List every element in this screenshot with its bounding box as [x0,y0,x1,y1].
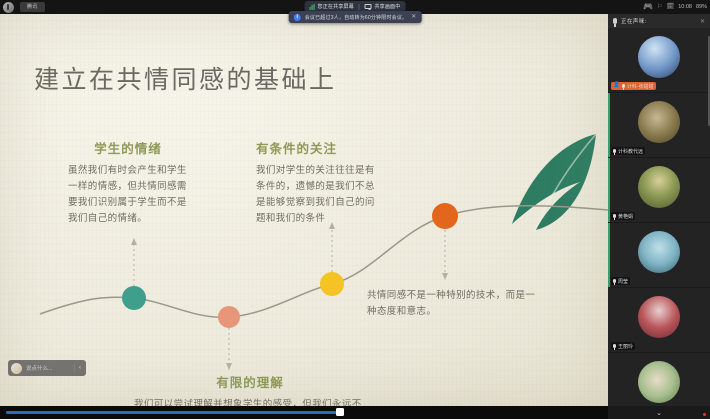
comment-composer[interactable]: 说点什么... ‹ [8,360,86,376]
notification-dot [703,413,706,416]
microphone-icon [613,344,616,349]
participants-collapse-bar[interactable]: ⌄ [608,406,710,419]
node-marker-salmon [218,306,240,328]
block-heading: 学生的情绪 [68,138,188,157]
participant-name: 计科教代远 [618,148,643,155]
sharing-status: 共享画面中 [365,3,401,10]
system-tray: 🎮 ⚐ 🗓 10:08 89% [643,0,707,14]
node-marker-yellow [320,272,344,296]
block-heading: 有限的理解 [134,372,366,391]
host-icon: 👤 [613,83,620,89]
participant-name: 计科-张甜甜 [627,83,654,90]
info-icon: i [294,14,301,21]
avatar [638,101,680,143]
block-body: 我们对学生的关注往往是有条件的，遗憾的是我们不总是能够觉察到我们自己的问题和我们… [256,163,382,227]
microphone-icon [622,84,625,89]
close-icon[interactable]: ✕ [411,14,416,20]
close-icon[interactable]: ✕ [700,18,705,25]
participant-name: 黄艳娟 [618,213,633,220]
slide-block-empathy-attitude: 共情同感不是一种特别的技术，而是一种态度和意志。 [367,288,545,320]
participant-tile[interactable]: 周莹 [608,223,710,288]
meeting-limit-toast: i 会议已超过3人，自动转为60分钟限时会议。 ✕ [289,11,422,23]
composer-divider [74,364,75,372]
sharing-label: 共享画面中 [374,3,400,10]
avatar [11,363,22,374]
avatar [638,296,680,338]
recording-label: 您正在共享屏幕 [318,3,354,10]
avatar [638,36,680,78]
playback-progress-bar[interactable] [0,406,608,419]
send-icon[interactable]: ‹ [79,365,83,371]
block-body: 共情同感不是一种特别的技术，而是一种态度和意志。 [367,288,545,320]
toast-message: 会议已超过3人，自动转为60分钟限时会议。 [305,14,408,21]
participant-nametag: 周莹 [611,277,630,285]
signal-bars-icon [310,4,315,10]
calendar-icon[interactable]: 🗓 [667,4,675,10]
app-tab[interactable]: 腾讯 [20,2,45,12]
controller-icon[interactable]: 🎮 [643,3,653,11]
progress-knob[interactable] [336,408,344,416]
shared-slide-stage[interactable]: 建立在共情同感的基础上 [0,14,608,406]
app-logo-icon [3,2,14,13]
microphone-icon [613,279,616,284]
meeting-screen-share-window: 腾讯 🎮 ⚐ 🗓 10:08 89% 您正在共享屏幕 共享画面中 i 会议已超过… [0,0,710,419]
pill-divider [359,4,360,10]
chevron-down-icon[interactable]: ⌄ [656,409,662,417]
avatar [638,361,680,403]
scrollbar[interactable] [708,36,710,126]
participant-tile[interactable]: 计科教代远 [608,93,710,158]
block-body: 我们可以尝试理解并想象学生的感受，但我们永远不可能脱离自己的经验去理解他人 [134,397,366,406]
participant-tile[interactable]: 王丽玲 [608,288,710,353]
participant-tile[interactable]: 黄艳娟 [608,158,710,223]
microphone-icon [613,214,616,219]
slide-block-limited-understanding: 有限的理解 我们可以尝试理解并想象学生的感受，但我们永远不可能脱离自己的经验去理… [134,372,366,406]
slide-block-conditional-attention: 有条件的关注 我们对学生的关注往往是有条件的，遗憾的是我们不总是能够觉察到我们自… [256,138,382,227]
screen-icon [365,4,372,9]
participant-name: 周莹 [618,278,628,285]
progress-track[interactable] [6,411,342,414]
participant-name: 王丽玲 [618,343,633,350]
participant-nametag: 王丽玲 [611,342,635,350]
participant-tile[interactable]: 👤计科-张甜甜 [608,28,710,93]
participants-panel: 正在声咪: ✕ 👤计科-张甜甜计科教代远黄艳娟周莹王丽玲郭玲鹿怡·计科 ⌄ [608,14,710,419]
participant-nametag: 计科教代远 [611,147,645,155]
participants-list[interactable]: 👤计科-张甜甜计科教代远黄艳娟周莹王丽玲郭玲鹿怡·计科 [608,28,710,419]
participants-header: 正在声咪: ✕ [608,14,710,28]
microphone-icon [613,149,616,154]
comment-input[interactable]: 说点什么... [26,364,70,372]
participant-nametag: 黄艳娟 [611,212,635,220]
recording-status: 您正在共享屏幕 [310,3,354,10]
flag-icon[interactable]: ⚐ [657,4,662,10]
microphone-icon [613,18,617,24]
node-marker-orange [432,203,458,229]
clock-label: 10:08 [678,4,692,10]
avatar [638,166,680,208]
participants-title: 正在声咪: [621,17,647,25]
node-marker-teal [122,286,146,310]
slide-block-student-emotion: 学生的情绪 虽然我们有时会产生和学生一样的情感，但共情同感需要我们识别属于学生而… [68,138,188,227]
block-heading: 有条件的关注 [256,138,382,157]
block-body: 虽然我们有时会产生和学生一样的情感，但共情同感需要我们识别属于学生而不是我们自己… [68,163,188,227]
avatar [638,231,680,273]
battery-label: 89% [696,4,707,10]
participant-nametag: 👤计科-张甜甜 [611,82,656,90]
